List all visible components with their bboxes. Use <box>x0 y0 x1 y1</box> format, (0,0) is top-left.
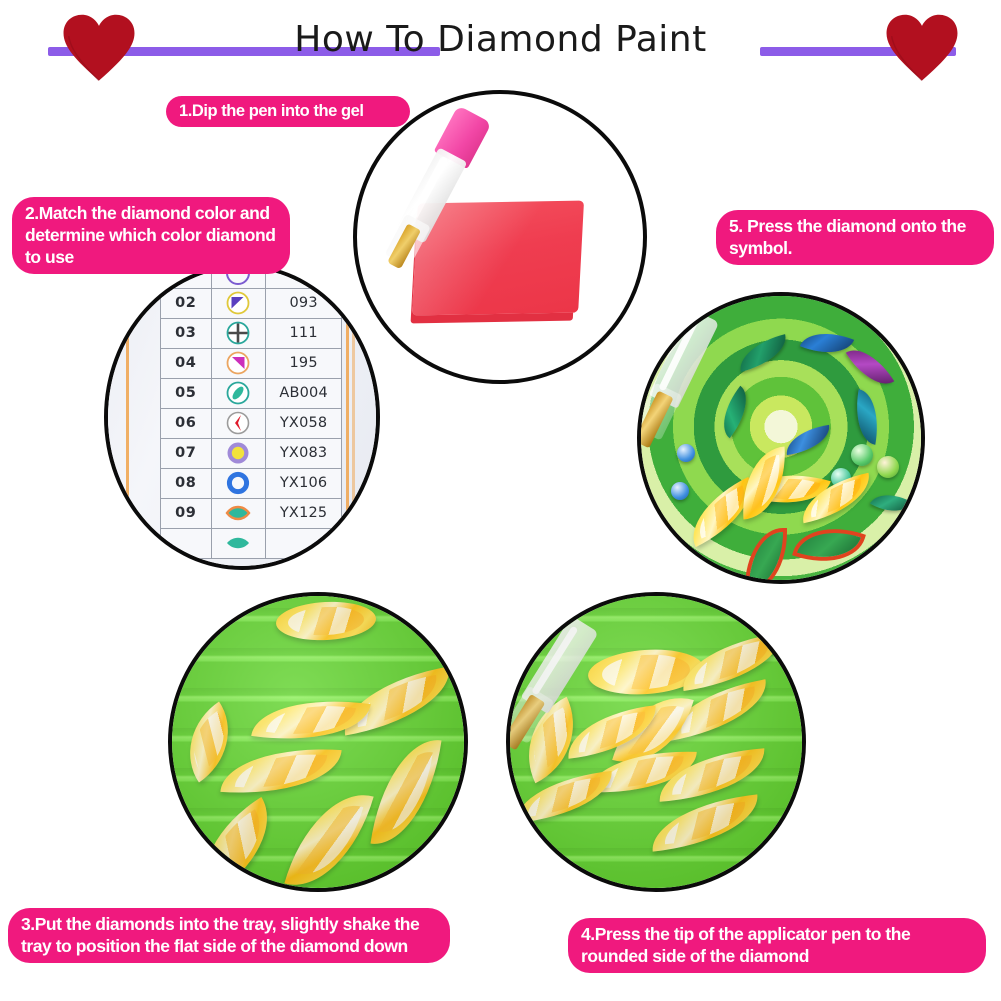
table-row: 07 YX083 <box>161 439 342 469</box>
step-4-label: 4.Press the tip of the applicator pen to… <box>568 918 986 973</box>
symbol-cell <box>211 379 266 409</box>
teal-leaf-with-orange-outline-icon <box>225 500 251 526</box>
color-symbol-chart: 028 02 093 <box>160 264 342 559</box>
step-5-label: 5. Press the diamond onto the symbol. <box>716 210 994 265</box>
yellow-dot-in-purple-ring-icon <box>225 440 251 466</box>
teal-leaf-icon <box>225 530 251 556</box>
table-row: 06 YX058 <box>161 409 342 439</box>
page-title: How To Diamond Paint <box>0 17 1001 63</box>
teal-oval-in-teal-circle-icon <box>225 380 251 406</box>
red-chevron-in-gray-circle-icon <box>225 410 251 436</box>
gray-plus-in-teal-circle-icon <box>225 320 251 346</box>
table-row: 05 AB004 <box>161 379 342 409</box>
symbol-cell <box>211 469 266 499</box>
step-3-label: 3.Put the diamonds into the tray, slight… <box>8 908 450 963</box>
step-3-photo <box>168 592 468 892</box>
step-2-label: 2.Match the diamond color and determine … <box>12 197 290 274</box>
header-band: How To Diamond Paint <box>0 0 1001 86</box>
step-1-photo <box>353 90 647 384</box>
symbol-cell <box>211 439 266 469</box>
table-row: 09 YX125 <box>161 499 342 529</box>
table-row: 04 195 <box>161 349 342 379</box>
table-row: 08 YX106 <box>161 469 342 499</box>
chart-rows: 028 02 093 <box>161 264 342 559</box>
table-row <box>161 529 342 559</box>
step-2-photo: 028 02 093 <box>104 264 380 570</box>
symbol-cell <box>211 319 266 349</box>
diamond-tray <box>510 596 802 888</box>
symbol-cell <box>211 289 266 319</box>
table-row: 03 111 <box>161 319 342 349</box>
symbol-cell <box>211 349 266 379</box>
symbol-cell <box>211 499 266 529</box>
step-1-label: 1.Dip the pen into the gel <box>166 96 410 127</box>
symbol-cell <box>211 409 266 439</box>
magenta-triangle-in-orange-circle-icon <box>225 350 251 376</box>
step-4-photo <box>506 592 806 892</box>
purple-triangle-in-yellow-circle-icon <box>225 290 251 316</box>
diamond-tray <box>172 596 464 888</box>
blue-ring-icon <box>225 470 251 496</box>
step-5-photo <box>637 292 925 584</box>
applicator-pen <box>506 612 604 779</box>
table-row: 02 093 <box>161 289 342 319</box>
symbol-cell <box>211 529 266 559</box>
infographic-page: How To Diamond Paint 1.Dip the pen into … <box>0 0 1001 1001</box>
